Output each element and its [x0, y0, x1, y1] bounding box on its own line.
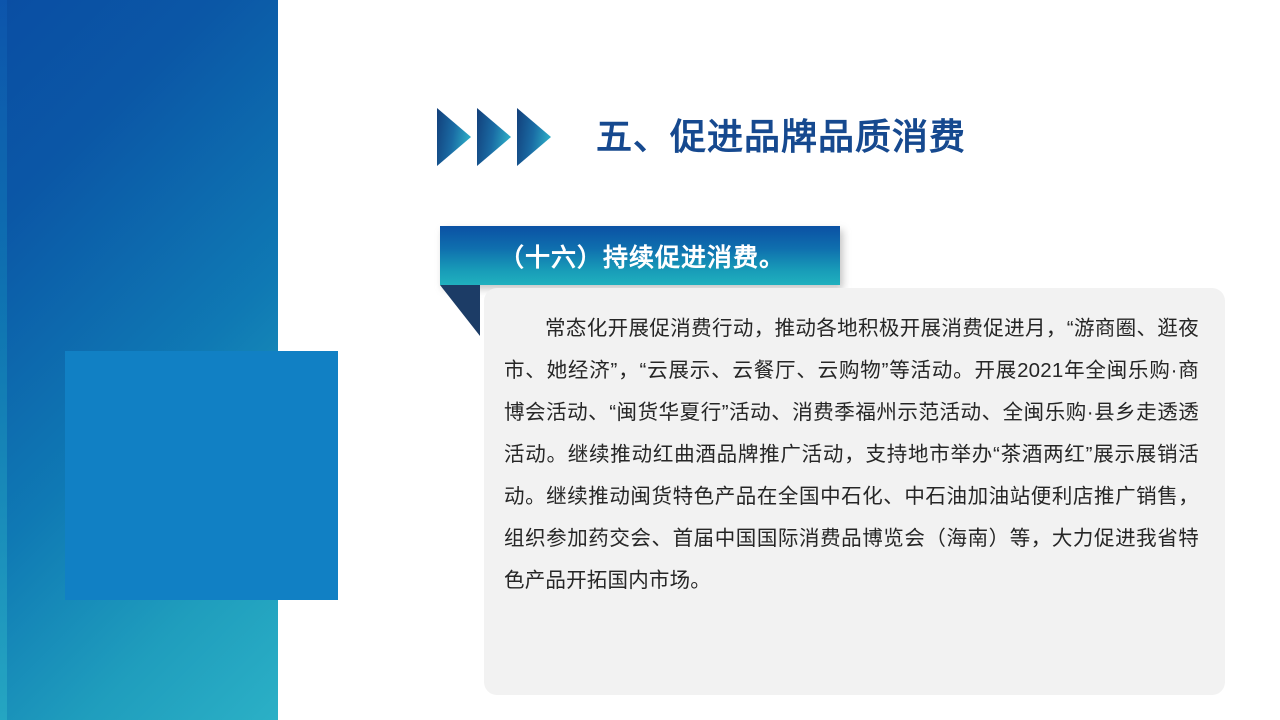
presentation-slide: 五、促进品牌品质消费 （十六）持续促进消费。 常态化开展促消费行动，推动各地积极…: [0, 0, 1280, 720]
arrow-group: [437, 108, 551, 166]
card-body-text: 常态化开展促消费行动，推动各地积极开展消费促进月，“游商圈、逛夜市、她经济”，“…: [504, 308, 1199, 602]
left-edge-strip: [0, 0, 7, 720]
section-banner: （十六）持续促进消费。: [440, 226, 840, 285]
banner-box: （十六）持续促进消费。: [440, 226, 840, 285]
triangle-arrow-icon: [517, 108, 551, 166]
slide-heading: 五、促进品牌品质消费: [437, 108, 966, 166]
triangle-arrow-icon: [477, 108, 511, 166]
page-title: 五、促进品牌品质消费: [596, 119, 966, 155]
banner-label: （十六）持续促进消费。: [499, 238, 785, 274]
content-card: 常态化开展促消费行动，推动各地积极开展消费促进月，“游商圈、逛夜市、她经济”，“…: [484, 288, 1225, 695]
triangle-arrow-icon: [437, 108, 471, 166]
banner-tail-shape: [440, 285, 480, 336]
left-accent-rectangle: [65, 351, 338, 600]
